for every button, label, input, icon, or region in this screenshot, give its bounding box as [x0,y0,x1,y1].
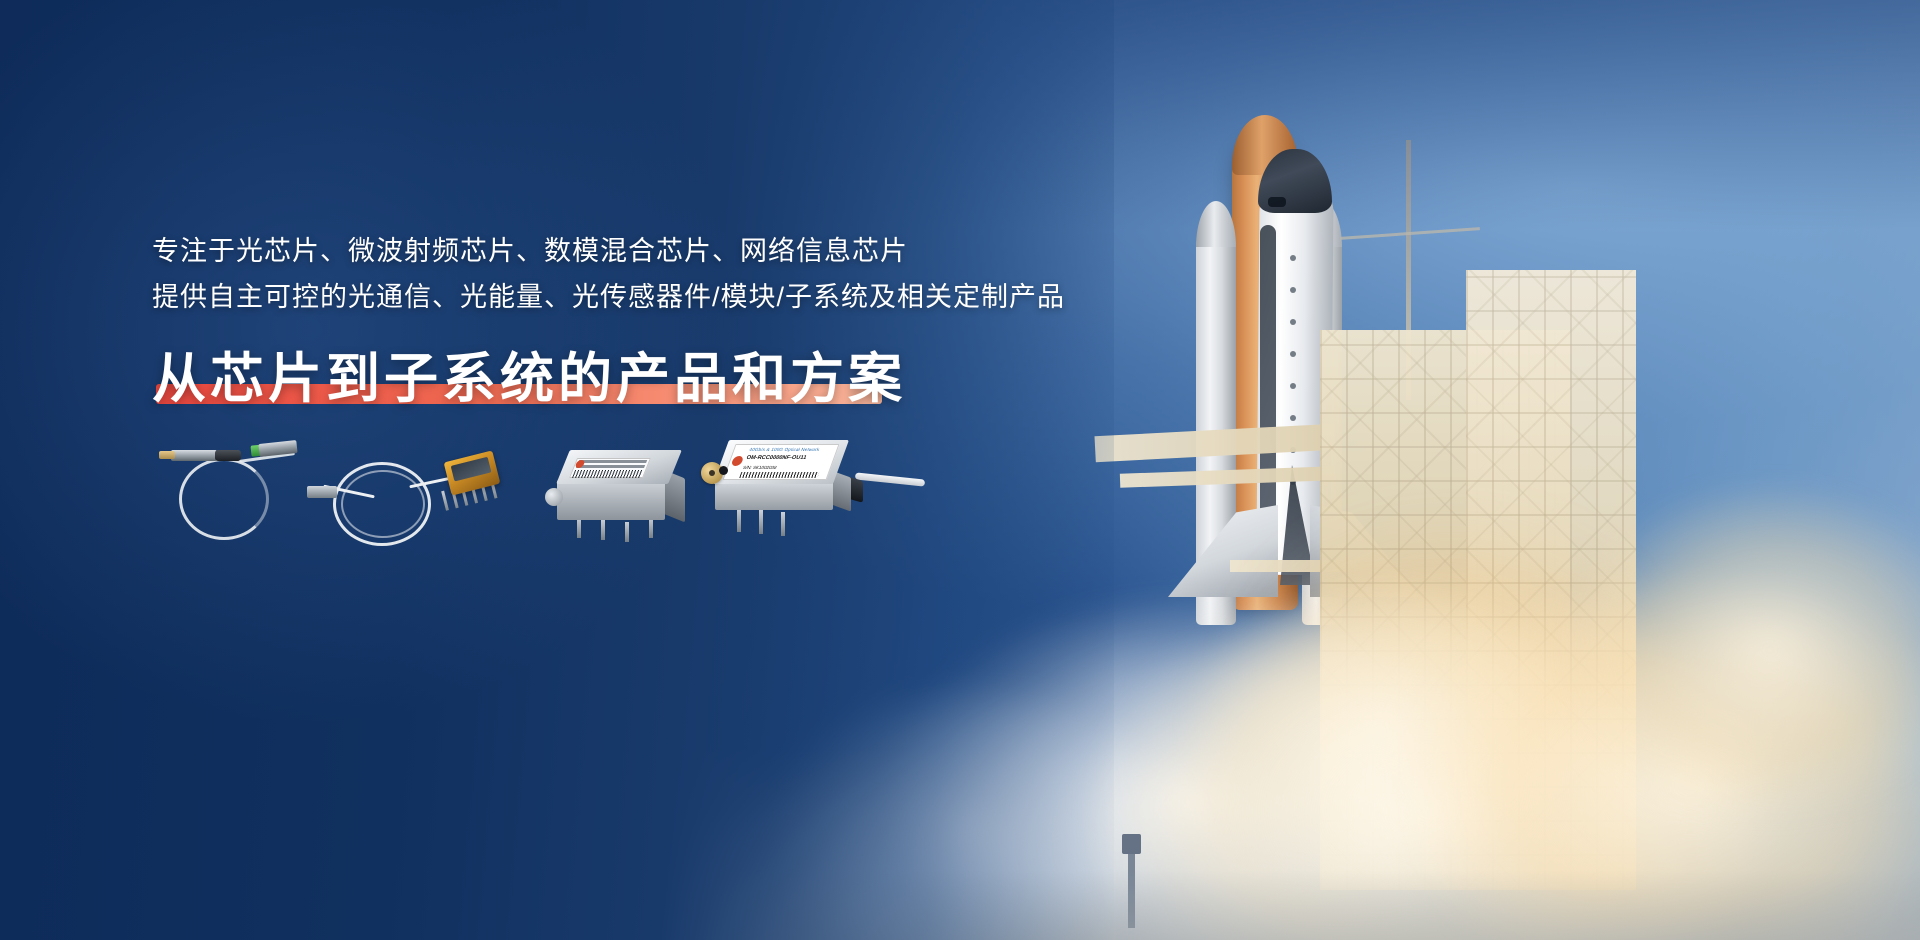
module-output-fiber [855,472,925,486]
module-pin [577,518,581,538]
fiber-connector-ferrule [171,450,217,461]
orbiter-heat-tiles [1260,225,1276,555]
hero-subtitle-line-2: 提供自主可控的光通信、光能量、光传感器件/模块/子系统及相关定制产品 [152,274,1152,320]
product-butterfly-laser-module-with-fiber-coil [323,450,523,545]
module-mounting-hole [719,466,728,475]
butterfly-package-lid [451,457,492,482]
module-pin [737,508,741,532]
module-front-face [715,480,833,510]
module-label-barcode [739,472,819,478]
module-pin [759,510,763,534]
module-rf-connector [545,488,563,506]
fiber-connector-tip [159,451,175,459]
booster-cap-left [1196,201,1236,247]
orbiter-window [1268,197,1286,207]
lc-connector [307,486,337,498]
fiber-loop [179,458,269,540]
hero-headline: 从芯片到子系统的产品和方案 [152,342,906,416]
module-pin [601,520,605,540]
module-label-sticker: 40Gb/s & 100G Optical Network OM-RCC0000… [722,444,839,480]
product-pigtailed-fiber-connector-assembly [155,442,305,542]
module-label-part-number: OM-RCC0000NF-OU11 [745,455,807,461]
hero-banner: 专注于光芯片、微波射频芯片、数模混合芯片、网络信息芯片 提供自主可控的光通信、光… [0,0,1920,940]
brand-logo-icon [731,456,745,466]
fiber-connector-boot [215,450,241,461]
module-label-serial: S/N: SK1002038 [742,465,777,470]
fiber-coil-inner [341,470,425,538]
module-label-brand-line: 40Gb/s & 100G Optical Network [749,447,821,452]
hero-subtitle-line-1: 专注于光芯片、微波射频芯片、数模混合芯片、网络信息芯片 [152,228,1152,274]
hero-copy-block: 专注于光芯片、微波射频芯片、数模混合芯片、网络信息芯片 提供自主可控的光通信、光… [152,228,1152,416]
product-optical-receiver-module: 40Gb/s & 100G Optical Network OM-RCC0000… [715,436,915,541]
product-metal-rf-module-box [555,444,690,539]
hero-headline-wrapper: 从芯片到子系统的产品和方案 [152,342,906,416]
product-image-strip: 40Gb/s & 100G Optical Network OM-RCC0000… [155,432,875,542]
module-pin [625,522,629,542]
module-pin [781,512,785,536]
module-front-face [557,480,665,520]
module-pin [649,518,653,538]
